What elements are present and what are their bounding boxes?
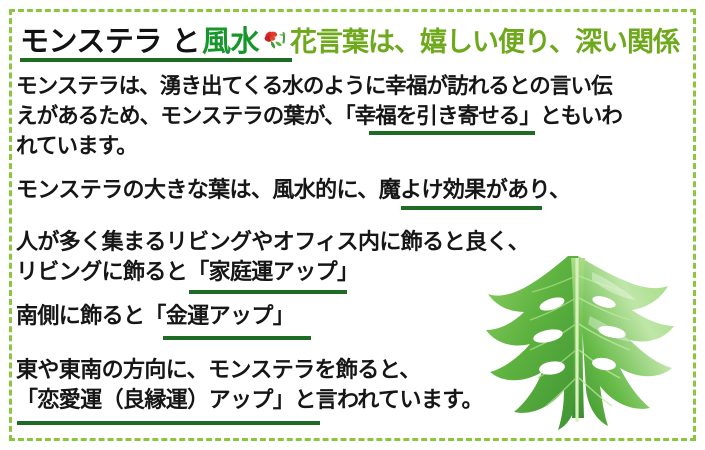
paragraph-5: 東や東南の方向に、モンステラを飾ると、 「恋愛運（良縁運）アップ」と言われていま…: [16, 356, 483, 416]
page-title: モンステラ と 風水 花言葉は、嬉しい便り、深い関係: [20, 18, 687, 62]
paragraph-1-line-2: えがあるため、モンステラの葉が、「幸福を引き寄せる」ともいわ: [16, 102, 622, 132]
paragraph-2: モンステラの大きな葉は、風水的に、魔よけ効果があり、: [16, 176, 570, 206]
leaf-left-half: [486, 256, 578, 430]
paragraph-1-line-1: モンステラは、湧き出てくる水のように幸福が訪れるとの言い伝: [16, 72, 622, 102]
flower-icon: [262, 28, 288, 54]
paragraph-4-line-1: 南側に飾ると「金運アップ」: [16, 302, 294, 332]
infographic-card: モンステラ と 風水 花言葉は、嬉しい便り、深い関係: [0, 0, 705, 450]
paragraph-4: 南側に飾ると「金運アップ」: [16, 302, 294, 332]
paragraph-1: モンステラは、湧き出てくる水のように幸福が訪れるとの言い伝 えがあるため、モンス…: [16, 72, 622, 162]
paragraph-5-line-1: 東や東南の方向に、モンステラを飾ると、: [16, 356, 483, 386]
highlight-underline-1: [369, 131, 535, 135]
monstera-leaf-image: [452, 232, 702, 440]
title-part-tagline: 花言葉は、嬉しい便り、深い関係: [290, 20, 679, 59]
paragraph-1-line-3: れています。: [16, 132, 622, 162]
paragraph-5-line-2: 「恋愛運（良縁運）アップ」と言われています。: [16, 386, 483, 416]
highlight-underline-4: [163, 336, 311, 340]
highlight-underline-5: [17, 421, 320, 425]
title-part-black: モンステラ と: [20, 18, 200, 60]
title-underline: [20, 58, 292, 62]
title-part-green: 風水: [202, 18, 259, 60]
paragraph-2-line-1: モンステラの大きな葉は、風水的に、魔よけ効果があり、: [16, 176, 570, 206]
highlight-underline-3: [189, 290, 347, 294]
highlight-underline-2: [401, 206, 542, 210]
